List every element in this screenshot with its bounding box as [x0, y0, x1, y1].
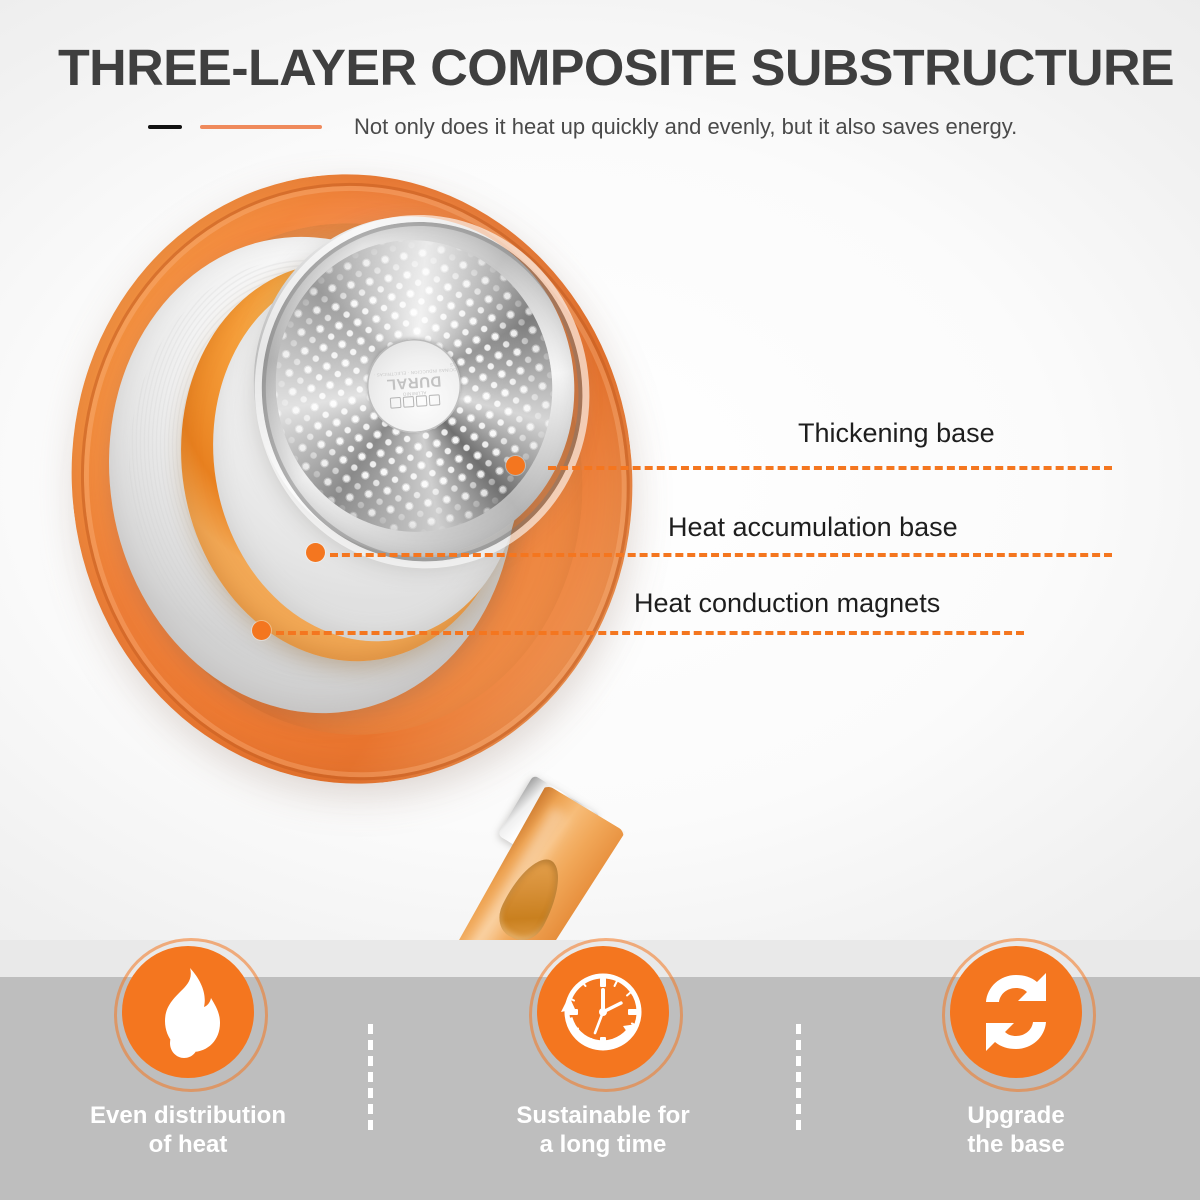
feature-label-1-line1: Even distribution — [38, 1102, 338, 1131]
flame-icon-disc — [122, 946, 254, 1078]
subtitle-row: Not only does it heat up quickly and eve… — [148, 114, 1017, 140]
callout-dot-3 — [252, 621, 271, 640]
feature-divider-2 — [796, 1024, 801, 1130]
flame-icon — [114, 938, 262, 1086]
compatibility-icons — [390, 394, 441, 408]
callout-dot-2 — [306, 543, 325, 562]
rule-black-icon — [148, 125, 182, 129]
clock-icon-disc — [537, 946, 669, 1078]
rule-orange-icon — [200, 125, 322, 129]
page-title: THREE-LAYER COMPOSITE SUBSTRUCTURE — [58, 38, 1190, 97]
callout-line-1 — [548, 466, 1112, 470]
clock-icon — [529, 938, 677, 1086]
feature-sustainable: Sustainable for a long time — [453, 938, 753, 1160]
feature-label-3-line2: the base — [866, 1131, 1166, 1160]
callout-line-3 — [276, 631, 1024, 635]
product-image: ALUMINIO DURAL COCINAS INDUCCION · ELECT… — [0, 150, 1200, 990]
emboss-compat-text: COCINAS INDUCCION · ELECTRICAS · GAS — [366, 362, 460, 377]
electric-icon — [416, 395, 428, 407]
induction-icon — [429, 394, 441, 406]
feature-label-2-line1: Sustainable for — [453, 1102, 753, 1131]
halogen-icon — [390, 397, 402, 409]
feature-divider-1 — [368, 1024, 373, 1130]
callout-label-thickening-base: Thickening base — [798, 418, 995, 449]
feature-label-3-line1: Upgrade — [866, 1102, 1166, 1131]
callout-label-heat-accumulation-base: Heat accumulation base — [668, 512, 958, 543]
feature-upgrade-base: Upgrade the base — [866, 938, 1166, 1160]
feature-label-2-line2: a long time — [453, 1131, 753, 1160]
feature-label-1: Even distribution of heat — [38, 1102, 338, 1160]
callout-line-2 — [330, 553, 1112, 557]
feature-label-1-line2: of heat — [38, 1131, 338, 1160]
refresh-icon-disc — [950, 946, 1082, 1078]
infographic-page: THREE-LAYER COMPOSITE SUBSTRUCTURE Not o… — [0, 0, 1200, 1200]
gas-icon — [403, 396, 415, 408]
callout-dot-1 — [506, 456, 525, 475]
feature-label-2: Sustainable for a long time — [453, 1102, 753, 1160]
feature-label-3: Upgrade the base — [866, 1102, 1166, 1160]
refresh-icon — [942, 938, 1090, 1086]
feature-even-distribution: Even distribution of heat — [38, 938, 338, 1160]
callout-label-heat-conduction-magnets: Heat conduction magnets — [634, 588, 940, 619]
page-subtitle: Not only does it heat up quickly and eve… — [354, 114, 1017, 140]
